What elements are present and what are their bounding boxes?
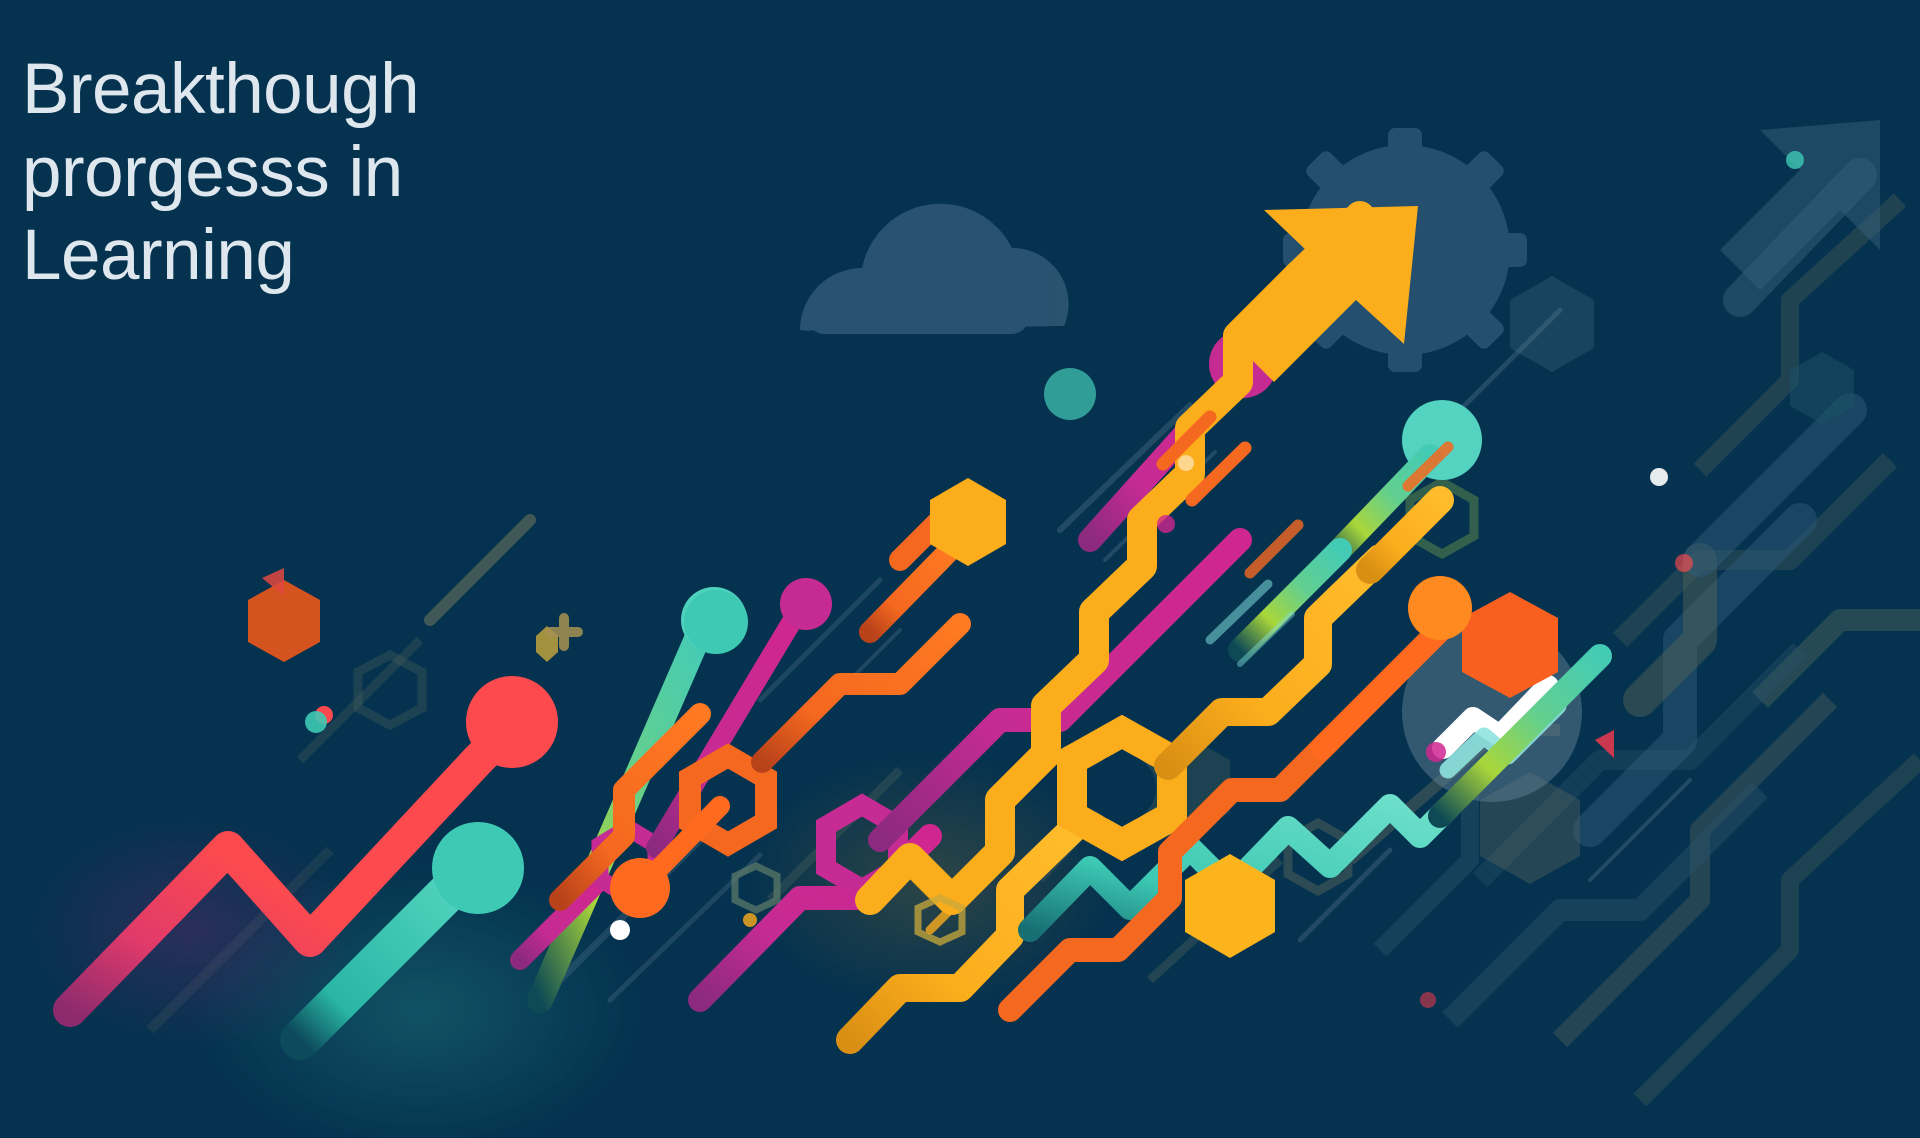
marker-teal-dot	[305, 711, 327, 733]
endpoint-marker-circle	[780, 578, 832, 630]
marker-teal-dot-topright	[1786, 151, 1804, 169]
endpoint-marker-circle	[432, 822, 524, 914]
marker-white-dot-right	[1650, 468, 1668, 486]
marker-teal-circle-small	[684, 590, 748, 654]
marker-amber-dot	[743, 913, 757, 927]
marker-white-dot	[610, 920, 630, 940]
marker-magenta-dot	[1426, 742, 1446, 762]
marker-teal-circle-mid	[1044, 368, 1096, 420]
abstract-growth-artwork	[0, 0, 1920, 1138]
marker-red-dot-bottom	[1420, 992, 1436, 1008]
endpoint-marker-circle	[1408, 576, 1472, 640]
illustration-canvas: Breakthough prorgesss in Learning	[0, 0, 1920, 1138]
marker-magenta-dot-2	[1157, 515, 1175, 533]
marker-white-dot-2	[1178, 455, 1194, 471]
marker-red-dot-right	[1675, 554, 1693, 572]
